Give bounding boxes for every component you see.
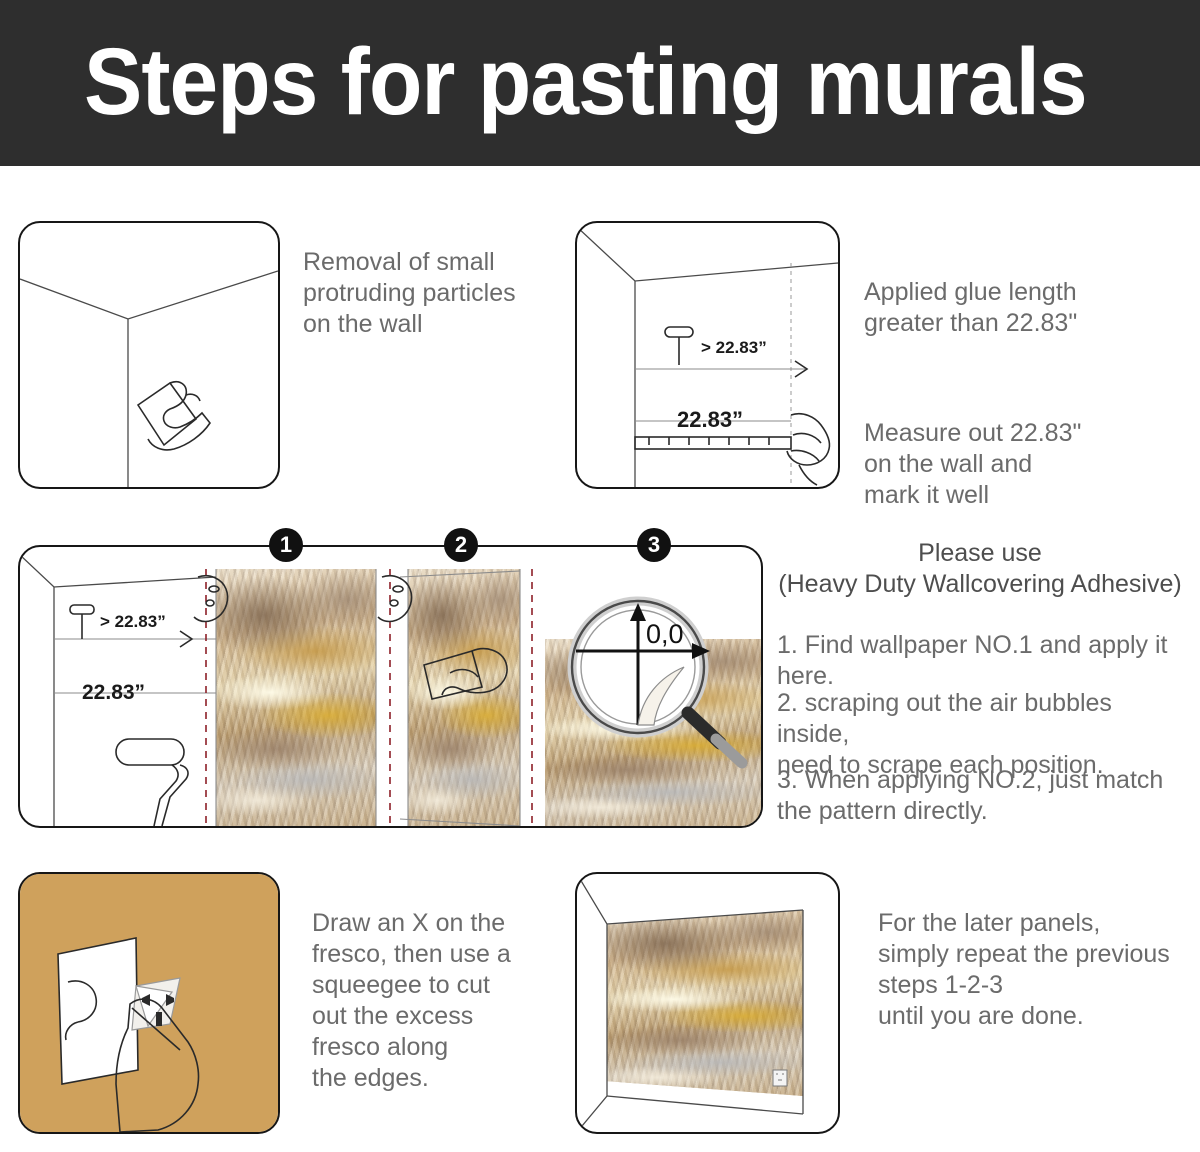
dim-exact-label-apply: 22.83”	[82, 681, 145, 704]
caption-adhesive-note: Please use (Heavy Duty Wallcovering Adhe…	[770, 538, 1190, 600]
origin-label: 0,0	[646, 619, 684, 649]
step-badge-2: 2	[444, 528, 478, 562]
caption-glue-length: Applied glue length greater than 22.83"	[864, 277, 1184, 339]
panel-glue-and-measure: > 22.83” 22.83”	[575, 221, 840, 489]
caption-instruction-1: 1. Find wallpaper NO.1 and apply it here…	[777, 630, 1197, 692]
caption-cut-excess: Draw an X on the fresco, then use a sque…	[312, 908, 562, 1094]
caption-finished-wall: For the later panels, simply repeat the …	[878, 908, 1198, 1032]
dim-greater-label: > 22.83”	[701, 338, 767, 357]
outlet-icon	[773, 1070, 787, 1086]
dim-exact-label: 22.83”	[677, 407, 743, 432]
apply-wallpaper-illustration: > 22.83” 22.83”	[20, 547, 761, 826]
caption-measure-wall: Measure out 22.83" on the wall and mark …	[864, 418, 1184, 511]
finished-wall-illustration	[577, 874, 838, 1132]
panel-cut-excess	[18, 872, 280, 1134]
caption-wall-preparation: Removal of small protruding particles on…	[303, 247, 561, 340]
step-badge-1: 1	[269, 528, 303, 562]
magnifier-icon: 0,0	[572, 601, 742, 763]
caption-instruction-3: 3. When applying NO.2, just match the pa…	[777, 765, 1177, 827]
step-badge-3: 3	[637, 528, 671, 562]
panel-apply-wallpaper: > 22.83” 22.83”	[18, 545, 763, 828]
wall-corner-scraper-illustration	[20, 223, 278, 487]
dim-greater-label-apply: > 22.83”	[100, 612, 166, 631]
glue-measure-illustration: > 22.83” 22.83”	[577, 223, 838, 487]
page-title: Steps for pasting murals	[84, 30, 1087, 134]
panel-finished-wall	[575, 872, 840, 1134]
panel-wall-preparation	[18, 221, 280, 489]
squeegee-cut-illustration	[20, 874, 278, 1132]
